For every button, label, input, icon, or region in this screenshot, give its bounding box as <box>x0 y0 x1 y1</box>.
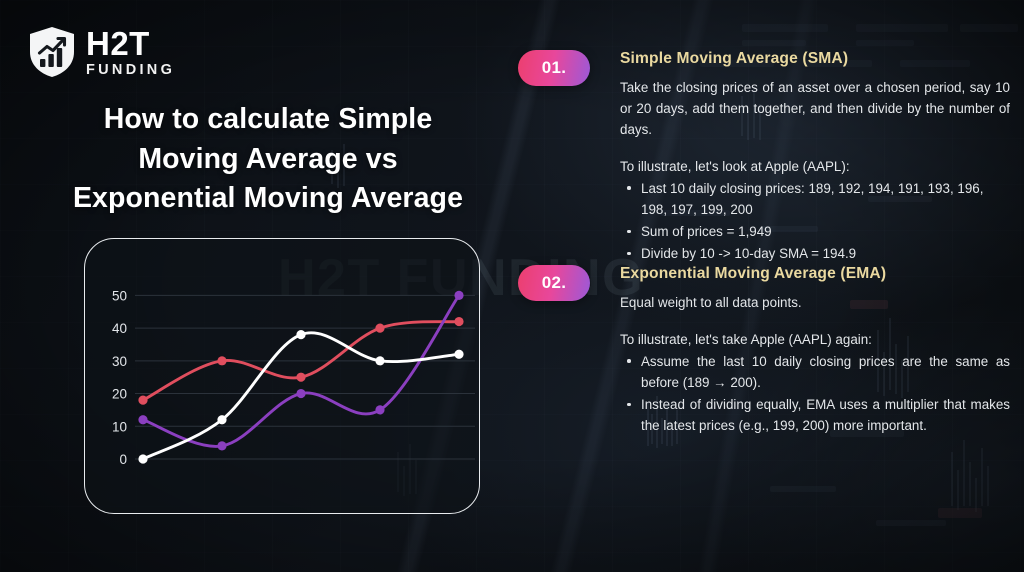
chart-y-tick-label: 50 <box>112 288 127 303</box>
chart-data-point-red <box>217 356 226 365</box>
shield-chart-icon <box>28 26 76 78</box>
section-leadin-ema: To illustrate, let's take Apple (AAPL) a… <box>620 329 1010 350</box>
section-paragraph-sma: Take the closing prices of an asset over… <box>620 77 1010 141</box>
chart-data-point-purple <box>138 415 147 424</box>
chart-data-point-red <box>296 373 305 382</box>
chart-data-point-red <box>138 395 147 404</box>
chart-data-point-white <box>454 350 463 359</box>
chart-data-point-purple <box>375 405 384 414</box>
chart-card: 01020304050 <box>84 238 480 514</box>
list-item: Last 10 daily closing prices: 189, 192, … <box>620 178 1010 220</box>
brand-name-secondary: FUNDING <box>86 63 175 78</box>
brand-wordmark: H2T FUNDING <box>86 27 175 78</box>
chart-data-point-white <box>138 454 147 463</box>
chart-data-point-white <box>217 415 226 424</box>
chart-data-point-purple <box>454 291 463 300</box>
page-title: How to calculate Simple Moving Average v… <box>26 100 510 219</box>
chart-y-tick-label: 20 <box>112 387 127 402</box>
section-leadin-sma: To illustrate, let's look at Apple (AAPL… <box>620 156 1010 177</box>
list-item: Assume the last 10 daily closing prices … <box>620 351 1010 393</box>
page-title-line-3: Exponential Moving Average <box>26 179 510 219</box>
paragraph-spacer <box>620 141 1010 156</box>
section-title-sma: Simple Moving Average (SMA) <box>620 50 1010 68</box>
list-item: Divide by 10 -> 10-day SMA = 194.9 <box>620 243 1010 264</box>
section-sma: 01. Simple Moving Average (SMA) Take the… <box>518 50 1010 264</box>
page-title-line-1: How to calculate Simple <box>26 100 510 140</box>
section-bullets-ema: Assume the last 10 daily closing prices … <box>620 351 1010 437</box>
slide-canvas: H2T FUNDING H2T FUNDING How to calculate… <box>0 0 1024 572</box>
chart-data-point-purple <box>217 441 226 450</box>
chart-y-tick-label: 0 <box>119 452 127 467</box>
chart-data-point-red <box>454 317 463 326</box>
section-ema: 02. Exponential Moving Average (EMA) Equ… <box>518 265 1010 436</box>
section-badge-01: 01. <box>518 50 590 86</box>
chart-data-point-white <box>296 330 305 339</box>
chart-y-tick-label: 40 <box>112 321 127 336</box>
chart-data-point-white <box>375 356 384 365</box>
list-item: Instead of dividing equally, EMA uses a … <box>620 394 1010 436</box>
chart-y-tick-label: 10 <box>112 419 127 434</box>
section-paragraph-ema: Equal weight to all data points. <box>620 292 1010 313</box>
chart-data-point-red <box>375 323 384 332</box>
section-bullets-sma: Last 10 daily closing prices: 189, 192, … <box>620 178 1010 265</box>
paragraph-spacer <box>620 314 1010 329</box>
chart-y-axis-labels: 01020304050 <box>112 288 127 467</box>
section-body-ema: Exponential Moving Average (EMA) Equal w… <box>620 265 1010 436</box>
chart-series-layer <box>138 291 463 464</box>
brand-logo: H2T FUNDING <box>28 26 175 78</box>
line-chart: 01020304050 <box>85 239 481 515</box>
chart-container: 01020304050 <box>85 239 479 513</box>
section-title-ema: Exponential Moving Average (EMA) <box>620 265 1010 283</box>
chart-y-tick-label: 30 <box>112 354 127 369</box>
page-title-line-2: Moving Average vs <box>26 140 510 180</box>
content-column: 01. Simple Moving Average (SMA) Take the… <box>518 50 1010 437</box>
chart-data-point-purple <box>296 389 305 398</box>
brand-name-primary: H2T <box>86 27 175 60</box>
section-body-sma: Simple Moving Average (SMA) Take the clo… <box>620 50 1010 264</box>
section-badge-02: 02. <box>518 265 590 301</box>
list-item: Sum of prices = 1,949 <box>620 221 1010 242</box>
